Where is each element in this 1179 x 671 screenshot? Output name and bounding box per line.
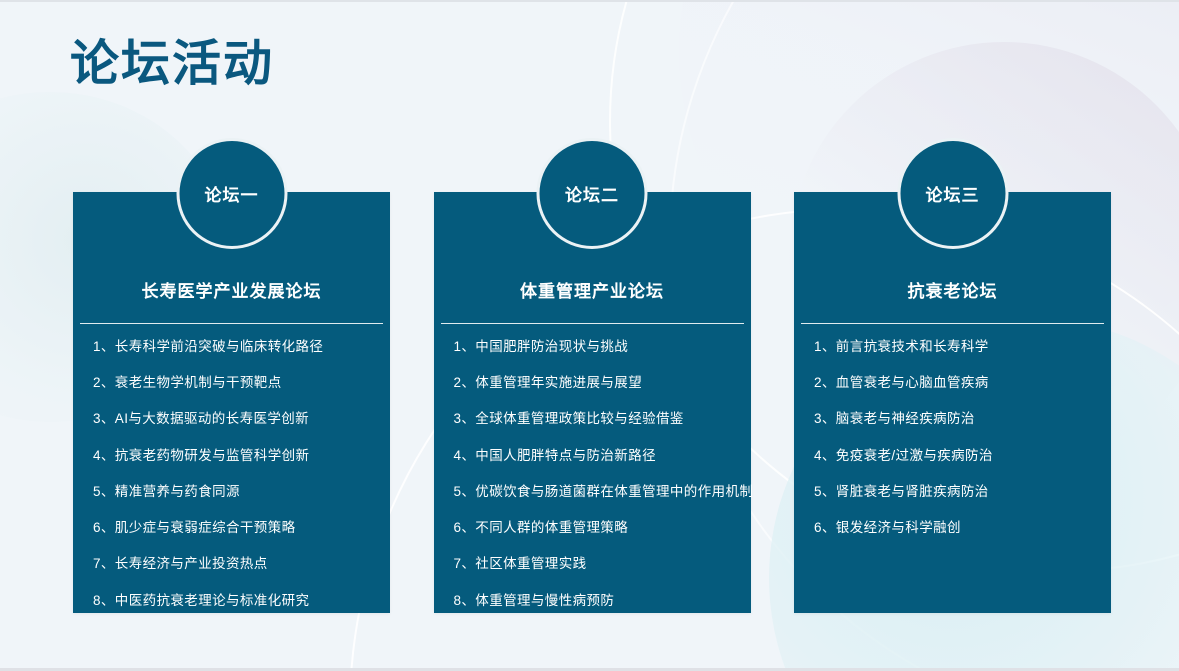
- list-item: 7、长寿经济与产业投资热点: [93, 555, 374, 573]
- list-item: 1、长寿科学前沿突破与临床转化路径: [93, 338, 374, 356]
- forum-title-1: 长寿医学产业发展论坛: [73, 277, 390, 302]
- list-item: 5、精准营养与药食同源: [93, 483, 374, 501]
- forum-badge-1: 论坛一: [176, 138, 287, 249]
- list-item: 4、中国人肥胖特点与防治新路径: [454, 447, 735, 465]
- list-item: 4、免疫衰老/过激与疾病防治: [814, 447, 1095, 465]
- list-item: 2、体重管理年实施进展与展望: [454, 374, 735, 392]
- forum-card-2[interactable]: 论坛二 体重管理产业论坛 1、中国肥胖防治现状与挑战 2、体重管理年实施进展与展…: [434, 192, 751, 613]
- forum-card-1[interactable]: 论坛一 长寿医学产业发展论坛 1、长寿科学前沿突破与临床转化路径 2、衰老生物学…: [73, 192, 390, 613]
- list-item: 6、肌少症与衰弱症综合干预策略: [93, 519, 374, 537]
- list-item: 4、抗衰老药物研发与监管科学创新: [93, 447, 374, 465]
- forum-divider-3: [801, 323, 1104, 324]
- list-item: 5、优碳饮食与肠道菌群在体重管理中的作用机制: [454, 483, 735, 501]
- list-item: 1、中国肥胖防治现状与挑战: [454, 338, 735, 356]
- forum-divider-2: [441, 323, 744, 324]
- list-item: 2、血管衰老与心脑血管疾病: [814, 374, 1095, 392]
- list-item: 3、AI与大数据驱动的长寿医学创新: [93, 410, 374, 428]
- forum-topic-list-3: 1、前言抗衰技术和长寿科学 2、血管衰老与心脑血管疾病 3、脑衰老与神经疾病防治…: [794, 338, 1111, 555]
- list-item: 2、衰老生物学机制与干预靶点: [93, 374, 374, 392]
- list-item: 1、前言抗衰技术和长寿科学: [814, 338, 1095, 356]
- forum-topic-list-1: 1、长寿科学前沿突破与临床转化路径 2、衰老生物学机制与干预靶点 3、AI与大数…: [73, 338, 390, 628]
- forum-badge-2: 论坛二: [537, 138, 648, 249]
- page-title: 论坛活动: [70, 36, 274, 92]
- list-item: 6、不同人群的体重管理策略: [454, 519, 735, 537]
- list-item: 6、银发经济与科学融创: [814, 519, 1095, 537]
- forum-title-3: 抗衰老论坛: [794, 277, 1111, 302]
- forum-card-group: 论坛一 长寿医学产业发展论坛 1、长寿科学前沿突破与临床转化路径 2、衰老生物学…: [73, 192, 1111, 613]
- slide-canvas: 论坛活动 论坛一 长寿医学产业发展论坛 1、长寿科学前沿突破与临床转化路径 2、…: [0, 0, 1179, 671]
- list-item: 8、中医药抗衰老理论与标准化研究: [93, 592, 374, 610]
- list-item: 5、肾脏衰老与肾脏疾病防治: [814, 483, 1095, 501]
- list-item: 7、社区体重管理实践: [454, 555, 735, 573]
- forum-topic-list-2: 1、中国肥胖防治现状与挑战 2、体重管理年实施进展与展望 3、全球体重管理政策比…: [434, 338, 751, 628]
- forum-card-3[interactable]: 论坛三 抗衰老论坛 1、前言抗衰技术和长寿科学 2、血管衰老与心脑血管疾病 3、…: [794, 192, 1111, 613]
- list-item: 3、全球体重管理政策比较与经验借鉴: [454, 410, 735, 428]
- forum-badge-3: 论坛三: [897, 138, 1008, 249]
- forum-divider-1: [80, 323, 383, 324]
- list-item: 8、体重管理与慢性病预防: [454, 592, 735, 610]
- forum-title-2: 体重管理产业论坛: [434, 277, 751, 302]
- list-item: 3、脑衰老与神经疾病防治: [814, 410, 1095, 428]
